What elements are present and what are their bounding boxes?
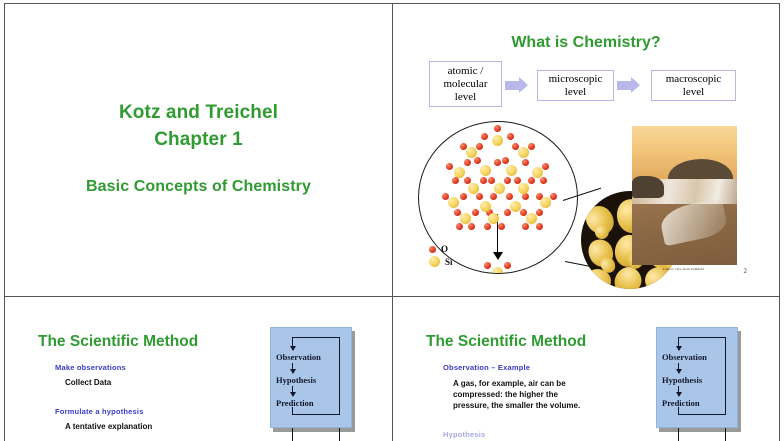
oxygen-atom bbox=[512, 143, 519, 150]
diagram-step-prediction: Prediction bbox=[276, 398, 314, 408]
diagram-arrowhead-prediction bbox=[290, 392, 296, 397]
slide3-method-diagram: Observation Hypothesis Prediction bbox=[270, 327, 355, 432]
oxygen-atom bbox=[480, 177, 487, 184]
level-box-atomic-line1: atomic / bbox=[444, 65, 488, 78]
slide1-subtitle: Basic Concepts of Chemistry bbox=[5, 178, 392, 196]
oxygen-atom bbox=[504, 177, 511, 184]
diagram-loop-left bbox=[678, 407, 679, 415]
silicon-atom bbox=[492, 135, 503, 146]
oxygen-atom bbox=[494, 159, 501, 166]
oxygen-atom bbox=[506, 193, 513, 200]
slide3-title: The Scientific Method bbox=[38, 333, 198, 351]
oxygen-atom bbox=[460, 143, 467, 150]
diagram-tail-left bbox=[678, 428, 679, 441]
diagram-step-hypothesis: Hypothesis bbox=[662, 375, 702, 385]
diagram-tail-right bbox=[725, 428, 726, 441]
diagram-loop-top bbox=[292, 337, 340, 338]
oxygen-atom bbox=[490, 193, 497, 200]
level-box-macroscopic: macroscopic level bbox=[651, 70, 736, 101]
slide3-heading-1: Make observations bbox=[55, 363, 126, 372]
silicon-atom bbox=[466, 147, 477, 158]
level-box-micro-line2: level bbox=[549, 86, 603, 99]
oxygen-atom bbox=[502, 157, 509, 164]
legend-item-oxygen: O bbox=[429, 244, 448, 254]
slide3-detail-2: A tentative explanation bbox=[65, 421, 152, 432]
silicon-atom bbox=[494, 183, 505, 194]
oxygen-atom bbox=[522, 223, 529, 230]
oxygen-atom bbox=[474, 157, 481, 164]
diagram-step-prediction: Prediction bbox=[662, 398, 700, 408]
oxygen-atom bbox=[446, 163, 453, 170]
legend-item-silicon: Si bbox=[429, 256, 453, 267]
diagram-tail-left bbox=[292, 428, 293, 441]
slide3-detail-1: Collect Data bbox=[65, 377, 111, 388]
level-box-atomic-line3: level bbox=[444, 91, 488, 104]
legend-label-silicon: Si bbox=[445, 257, 453, 267]
silicon-atom bbox=[532, 167, 543, 178]
diagram-arrowhead-observation bbox=[290, 346, 296, 351]
oxygen-atom bbox=[468, 223, 475, 230]
oxygen-atom bbox=[542, 163, 549, 170]
oxygen-atom bbox=[522, 159, 529, 166]
silicon-atom bbox=[518, 183, 529, 194]
oxygen-atom bbox=[522, 193, 529, 200]
diagram-arrowhead-hypothesis bbox=[676, 369, 682, 374]
diagram-loop-top bbox=[678, 337, 726, 338]
oxygen-atom bbox=[528, 177, 535, 184]
oxygen-atom bbox=[540, 177, 547, 184]
slide2-photo-caption: A micro view from Zumdahl bbox=[628, 267, 738, 271]
silicon-atom bbox=[506, 165, 517, 176]
diagram-tail-right bbox=[339, 428, 340, 441]
slide-handout-page: Kotz and Treichel Chapter 1 Basic Concep… bbox=[0, 0, 784, 441]
arrow-microscopic-to-macroscopic bbox=[617, 77, 640, 93]
slide-3-scientific-method[interactable]: The Scientific Method Make observations … bbox=[5, 297, 392, 441]
oxygen-atom bbox=[472, 209, 479, 216]
level-box-microscopic: microscopic level bbox=[537, 70, 614, 101]
diagram-loop-bottom bbox=[678, 414, 726, 415]
oxygen-atom bbox=[504, 209, 511, 216]
silicon-atom bbox=[468, 183, 479, 194]
oxygen-atom bbox=[520, 209, 527, 216]
arrow-atomic-to-microscopic bbox=[505, 77, 528, 93]
slide4-method-diagram: Observation Hypothesis Prediction bbox=[656, 327, 741, 432]
slide-4-scientific-method-example[interactable]: The Scientific Method Observation – Exam… bbox=[393, 297, 779, 441]
silicon-atom bbox=[454, 167, 465, 178]
slide1-line-1: Kotz and Treichel bbox=[5, 102, 392, 124]
slide4-detail-1: A gas, for example, air can be compresse… bbox=[453, 378, 583, 411]
oxygen-atom bbox=[481, 133, 488, 140]
oxygen-atom bbox=[536, 223, 543, 230]
level-box-macro-line2: level bbox=[666, 86, 722, 99]
silicon-atom bbox=[540, 197, 551, 208]
diagram-loop-right bbox=[725, 337, 726, 415]
oxygen-atom bbox=[528, 143, 535, 150]
molecular-zoom-arrow-head bbox=[493, 252, 503, 260]
silicon-atom bbox=[488, 213, 499, 224]
silicon-atom-icon bbox=[429, 256, 440, 267]
oxygen-atom bbox=[476, 143, 483, 150]
diagram-arrowhead-prediction bbox=[676, 392, 682, 397]
level-box-atomic-molecular: atomic / molecular level bbox=[429, 61, 502, 107]
silicon-atom bbox=[510, 201, 521, 212]
oxygen-atom bbox=[494, 125, 501, 132]
page-border-right bbox=[779, 3, 780, 441]
oxygen-atom bbox=[498, 223, 505, 230]
diagram-loop-left bbox=[292, 407, 293, 415]
slide4-title: The Scientific Method bbox=[426, 333, 586, 351]
silicon-atom bbox=[480, 165, 491, 176]
diagram-step-observation: Observation bbox=[662, 352, 707, 362]
slide2-title: What is Chemistry? bbox=[393, 34, 779, 52]
oxygen-atom bbox=[464, 177, 471, 184]
slide-2-what-is-chemistry[interactable]: What is Chemistry? atomic / molecular le… bbox=[393, 4, 779, 290]
silicon-atom bbox=[480, 201, 491, 212]
oxygen-atom bbox=[536, 209, 543, 216]
level-box-atomic-line2: molecular bbox=[444, 78, 488, 91]
oxygen-atom bbox=[456, 223, 463, 230]
slide-1-title[interactable]: Kotz and Treichel Chapter 1 Basic Concep… bbox=[5, 4, 392, 290]
diagram-arrowhead-hypothesis bbox=[290, 369, 296, 374]
oxygen-atom bbox=[504, 262, 511, 269]
diagram-loop-right bbox=[339, 337, 340, 415]
silicon-atom bbox=[460, 213, 471, 224]
oxygen-atom bbox=[550, 193, 557, 200]
silicon-atom bbox=[448, 197, 459, 208]
oxygen-atom bbox=[484, 262, 491, 269]
slide4-heading-1: Observation – Example bbox=[443, 363, 530, 372]
slide2-page-number: 2 bbox=[744, 267, 748, 275]
oxygen-atom-icon bbox=[429, 246, 436, 253]
oxygen-atom bbox=[442, 193, 449, 200]
photo-rocks bbox=[632, 176, 664, 198]
slide3-heading-2: Formulate a hypothesis bbox=[55, 407, 144, 416]
level-box-micro-line1: microscopic bbox=[549, 73, 603, 86]
oxygen-atom bbox=[454, 209, 461, 216]
beach-photograph bbox=[632, 126, 737, 265]
oxygen-atom bbox=[507, 133, 514, 140]
diagram-arrowhead-observation bbox=[676, 346, 682, 351]
level-box-macro-line1: macroscopic bbox=[666, 73, 722, 86]
silicon-atom bbox=[492, 267, 503, 275]
diagram-step-hypothesis: Hypothesis bbox=[276, 375, 316, 385]
diagram-step-observation: Observation bbox=[276, 352, 321, 362]
oxygen-atom bbox=[464, 159, 471, 166]
silicon-atom bbox=[526, 213, 537, 224]
slide4-heading-2: Hypothesis bbox=[443, 430, 485, 439]
slide1-line-2: Chapter 1 bbox=[5, 129, 392, 151]
silicon-atom bbox=[518, 147, 529, 158]
oxygen-atom bbox=[488, 177, 495, 184]
oxygen-atom bbox=[484, 223, 491, 230]
oxygen-atom bbox=[452, 177, 459, 184]
oxygen-atom bbox=[460, 193, 467, 200]
oxygen-atom bbox=[514, 177, 521, 184]
oxygen-atom bbox=[476, 193, 483, 200]
diagram-loop-bottom bbox=[292, 414, 340, 415]
legend-label-oxygen: O bbox=[441, 244, 448, 254]
